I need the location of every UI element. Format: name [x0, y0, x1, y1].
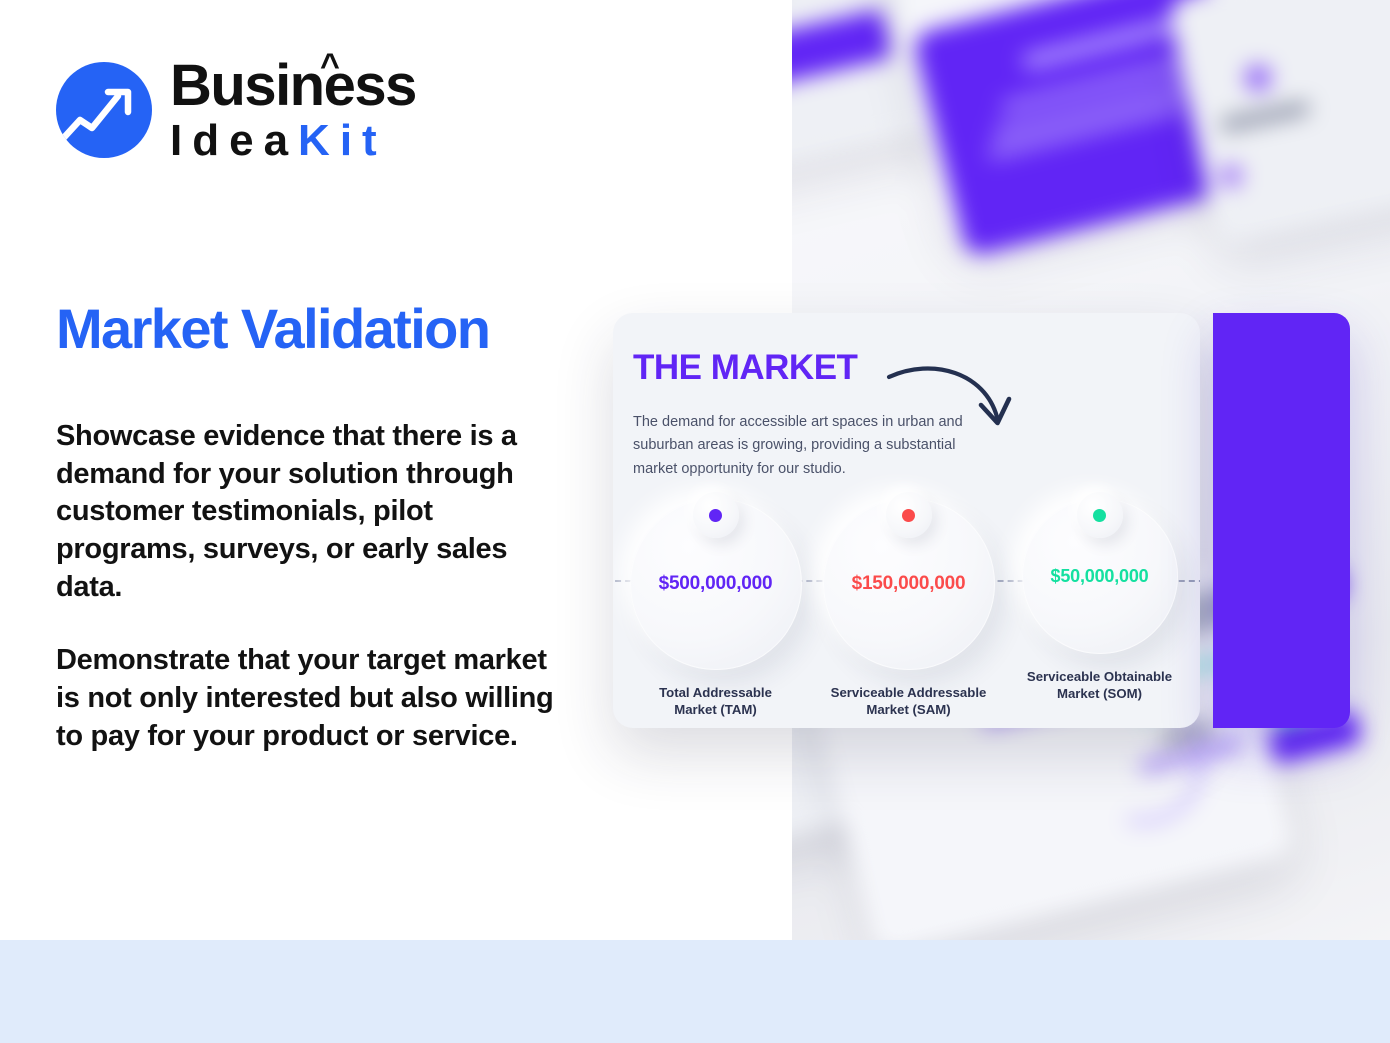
bottom-accent-band	[0, 940, 1390, 1043]
metric-som[interactable]: $50,000,000 Serviceable Obtainable Marke…	[1007, 498, 1192, 719]
brand-name-idea: Idea	[170, 116, 298, 165]
metric-value: $50,000,000	[1051, 566, 1149, 587]
metric-label: Total Addressable Market (TAM)	[659, 684, 772, 719]
metric-label-line-2: Market (SAM)	[831, 701, 987, 718]
metric-label-line-2: Market (SOM)	[1027, 685, 1172, 702]
brand-name-kit: Kit	[298, 116, 387, 165]
metric-bubble: $50,000,000	[1022, 498, 1178, 654]
body-paragraph-1: Showcase evidence that there is a demand…	[56, 418, 566, 606]
metric-value: $500,000,000	[659, 573, 773, 595]
metric-label: Serviceable Addressable Market (SAM)	[831, 684, 987, 719]
slide-market-validation: Business ^ IdeaKit Market Validation Sho…	[0, 0, 1390, 1043]
brand-name-top-text: Business	[170, 53, 416, 118]
metric-label: Serviceable Obtainable Market (SOM)	[1027, 668, 1172, 703]
status-dot-icon	[1093, 509, 1106, 522]
brand-logo[interactable]: Business ^ IdeaKit	[56, 57, 416, 163]
metric-tam[interactable]: $500,000,000 Total Addressable Market (T…	[623, 498, 808, 719]
brand-name-bottom: IdeaKit	[170, 119, 416, 163]
market-metrics: $500,000,000 Total Addressable Market (T…	[613, 498, 1200, 719]
bg-dot	[1245, 65, 1271, 91]
metric-label-line-1: Serviceable Obtainable	[1027, 668, 1172, 685]
brand-name-top: Business ^	[170, 57, 416, 115]
metric-knob	[886, 492, 932, 538]
status-dot-icon	[902, 509, 915, 522]
metric-sam[interactable]: $150,000,000 Serviceable Addressable Mar…	[816, 498, 1001, 719]
growth-arrow-chart-icon	[56, 62, 152, 158]
metric-knob	[1077, 492, 1123, 538]
metric-label-line-1: Serviceable Addressable	[831, 684, 987, 701]
bg-card	[1167, 0, 1390, 244]
metric-value: $150,000,000	[852, 573, 966, 595]
status-dot-icon	[709, 509, 722, 522]
body-paragraph-2: Demonstrate that your target market is n…	[56, 642, 566, 755]
bg-dot	[1220, 165, 1242, 187]
purple-accent-panel	[1213, 313, 1350, 728]
curved-arrow-down-right-icon	[885, 355, 1017, 442]
the-market-card: THE MARKET The demand for accessible art…	[613, 313, 1200, 728]
metric-bubble: $150,000,000	[823, 498, 995, 670]
metric-label-line-2: Market (TAM)	[659, 701, 772, 718]
card-title: THE MARKET	[633, 348, 857, 388]
metric-knob	[693, 492, 739, 538]
body-copy: Showcase evidence that there is a demand…	[56, 418, 566, 756]
metric-bubble: $500,000,000	[630, 498, 802, 670]
metric-label-line-1: Total Addressable	[659, 684, 772, 701]
page-title: Market Validation	[56, 296, 489, 361]
circumflex-accent-icon: ^	[320, 49, 338, 83]
brand-wordmark: Business ^ IdeaKit	[170, 57, 416, 163]
